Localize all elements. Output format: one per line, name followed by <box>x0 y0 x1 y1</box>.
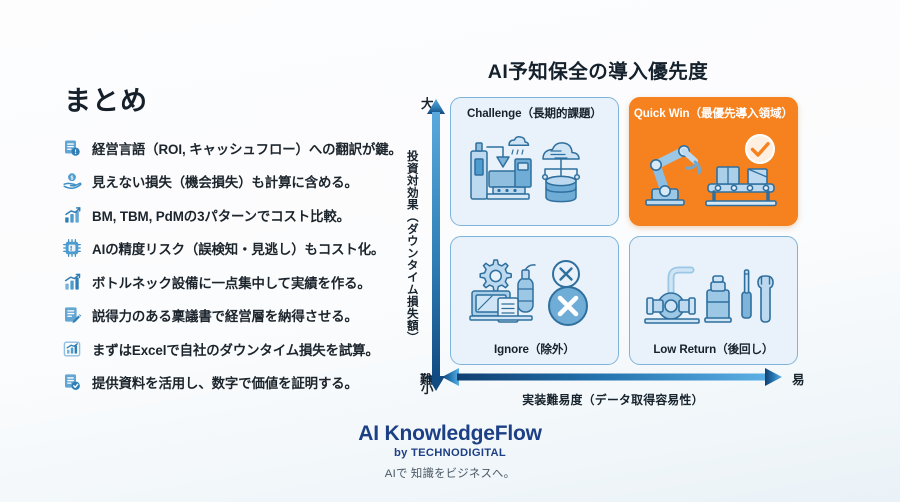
chart-title: AI予知保全の導入優先度 <box>398 55 798 84</box>
quadrant-quick-win-label: Quick Win（最優先導入領域） <box>634 105 793 121</box>
list-item-label: まずはExcelで自社のダウンタイム損失を試算。 <box>92 339 379 359</box>
page-title: まとめ <box>64 88 392 115</box>
x-axis-arrow-icon <box>442 367 782 387</box>
gear-cross-equipment-art <box>455 244 614 341</box>
priority-matrix-chart: AI予知保全の導入優先度 大 小 投資対効果（ダウンタイム損失額） Challe… <box>398 55 818 410</box>
quadrant-ignore-label: Ignore（除外） <box>494 341 575 357</box>
hand-coin-icon: $ <box>62 171 82 191</box>
cpu-chip-icon <box>62 238 82 258</box>
list-item-label: BM, TBM, PdMの3パターンでコスト比較。 <box>92 205 350 225</box>
document-settings-icon <box>62 138 82 158</box>
footer-branding: AI KnowledgeFlow by TECHNODIGITAL AIで 知識… <box>0 422 900 481</box>
svg-text:$: $ <box>71 175 74 181</box>
robot-arm-conveyor-check-art <box>634 122 793 218</box>
x-axis: 難 易 実装難易度（データ取得容易性） <box>418 367 818 413</box>
quadrant-challenge[interactable]: Challenge（長期的課題） <box>450 97 619 226</box>
list-item: AIの精度リスク（誤検知・見逃し）もコスト化。 <box>62 238 392 259</box>
bar-chart-icon <box>62 205 82 225</box>
document-pen-icon <box>62 305 82 325</box>
quadrant-challenge-label: Challenge（長期的課題） <box>467 105 602 121</box>
list-item: 経営言語（ROI, キャッシュフロー）への翻訳が鍵。 <box>62 137 392 158</box>
list-item: 提供資料を活用し、数字で価値を証明する。 <box>62 372 392 393</box>
quadrant-grid: Challenge（長期的課題） <box>450 97 798 365</box>
list-item-label: 提供資料を活用し、数字で価値を証明する。 <box>92 372 358 392</box>
list-item-label: 見えない損失（機会損失）も計算に含める。 <box>92 171 358 191</box>
x-axis-high-label: 易 <box>792 369 805 388</box>
brand-by-line: by TECHNODIGITAL <box>0 447 900 459</box>
quadrant-quick-win[interactable]: Quick Win（最優先導入領域） <box>629 97 798 226</box>
summary-bullet-list: 経営言語（ROI, キャッシュフロー）への翻訳が鍵。 $ 見えない損失（機会損失… <box>62 137 392 393</box>
list-item-label: ボトルネック設備に一点集中して実績を作る。 <box>92 272 371 292</box>
list-item: ボトルネック設備に一点集中して実績を作る。 <box>62 271 392 292</box>
y-axis-arrow-icon <box>426 99 446 391</box>
quadrant-ignore[interactable]: Ignore（除外） <box>450 236 619 365</box>
list-item: BM, TBM, PdMの3パターンでコスト比較。 <box>62 204 392 225</box>
x-axis-low-label: 難 <box>420 369 433 388</box>
list-item-label: AIの精度リスク（誤検知・見逃し）もコスト化。 <box>92 238 384 258</box>
list-item: 説得力のある稟議書で経営層を納得させる。 <box>62 305 392 326</box>
summary-panel: まとめ 経営言語（ROI, キャッシュフロー）への翻訳が鍵。 <box>62 88 392 405</box>
factory-cloud-database-art <box>455 122 614 218</box>
y-axis-title: 投資対効果（ダウンタイム損失額） <box>402 139 422 354</box>
list-item-label: 説得力のある稟議書で経営層を納得させる。 <box>92 305 358 325</box>
list-item: $ 見えない損失（機会損失）も計算に含める。 <box>62 171 392 192</box>
y-axis: 大 小 投資対効果（ダウンタイム損失額） <box>404 95 450 395</box>
x-axis-title: 実装難易度（データ取得容易性） <box>418 391 808 408</box>
quadrant-low-return-label: Low Return（後回し） <box>653 341 773 357</box>
list-item: まずはExcelで自社のダウンタイム損失を試算。 <box>62 338 392 359</box>
chart-up-icon <box>62 272 82 292</box>
brand-name: AI KnowledgeFlow <box>0 422 900 445</box>
list-item-label: 経営言語（ROI, キャッシュフロー）への翻訳が鍵。 <box>92 138 402 158</box>
pump-tank-tools-art <box>634 244 793 341</box>
brand-tagline: AIで 知識をビジネスへ。 <box>0 465 900 481</box>
quadrant-low-return[interactable]: Low Return（後回し） <box>629 236 798 365</box>
chart-frame-icon <box>62 339 82 359</box>
document-check-icon <box>62 372 82 392</box>
